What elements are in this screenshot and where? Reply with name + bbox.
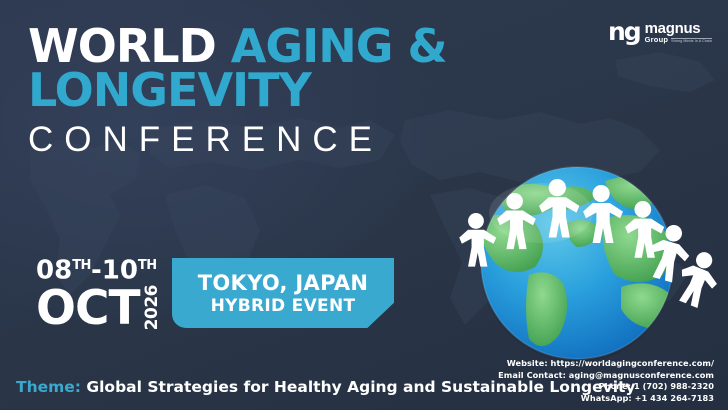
title-line-2: LONGEVITY (28, 68, 447, 112)
contact-website[interactable]: Website: https://worldagingconference.co… (498, 358, 714, 369)
logo-monogram-icon: ng (608, 20, 640, 44)
globe-with-people-graphic (455, 163, 728, 363)
theme-label: Theme: (16, 378, 81, 396)
contact-info: Website: https://worldagingconference.co… (498, 358, 714, 404)
date-year: 2026 (142, 285, 162, 330)
contact-whatsapp[interactable]: WhatsApp: +1 434 264-7183 (498, 393, 714, 404)
date-day-end-suffix: TH (138, 258, 157, 273)
event-title: WORLD AGING & LONGEVITY CONFERENCE (28, 24, 447, 164)
contact-email[interactable]: Email Contact: aging@magnusconference.co… (498, 370, 714, 381)
venue-city: TOKYO, JAPAN (198, 272, 369, 294)
title-line-3-conference: CONFERENCE (28, 116, 447, 164)
logo-group-label: Group (645, 36, 669, 44)
date-day-range: 08TH-10TH (36, 252, 162, 285)
title-word-longevity: LONGEVITY (28, 63, 311, 117)
date-month: OCT (36, 286, 140, 331)
date-day-start-suffix: TH (72, 258, 91, 273)
venue-event-mode: HYBRID EVENT (211, 297, 356, 315)
date-month-year-row: OCT 2026 (36, 285, 162, 331)
contact-phone[interactable]: Phone: 1 (702) 988-2320 (498, 381, 714, 392)
venue-badge: TOKYO, JAPAN HYBRID EVENT (172, 258, 394, 328)
paper-doll-person (671, 246, 727, 311)
logo-tagline: Strong Minds In A Chain (671, 38, 712, 44)
conference-banner: ng magnus Group Strong Minds In A Chain … (0, 0, 728, 410)
event-date-block: 08TH-10TH OCT 2026 (36, 252, 162, 331)
logo-wordmark: magnus (645, 21, 712, 36)
magnus-group-logo[interactable]: ng magnus Group Strong Minds In A Chain (608, 20, 712, 44)
title-line-1: WORLD AGING & (28, 24, 447, 68)
